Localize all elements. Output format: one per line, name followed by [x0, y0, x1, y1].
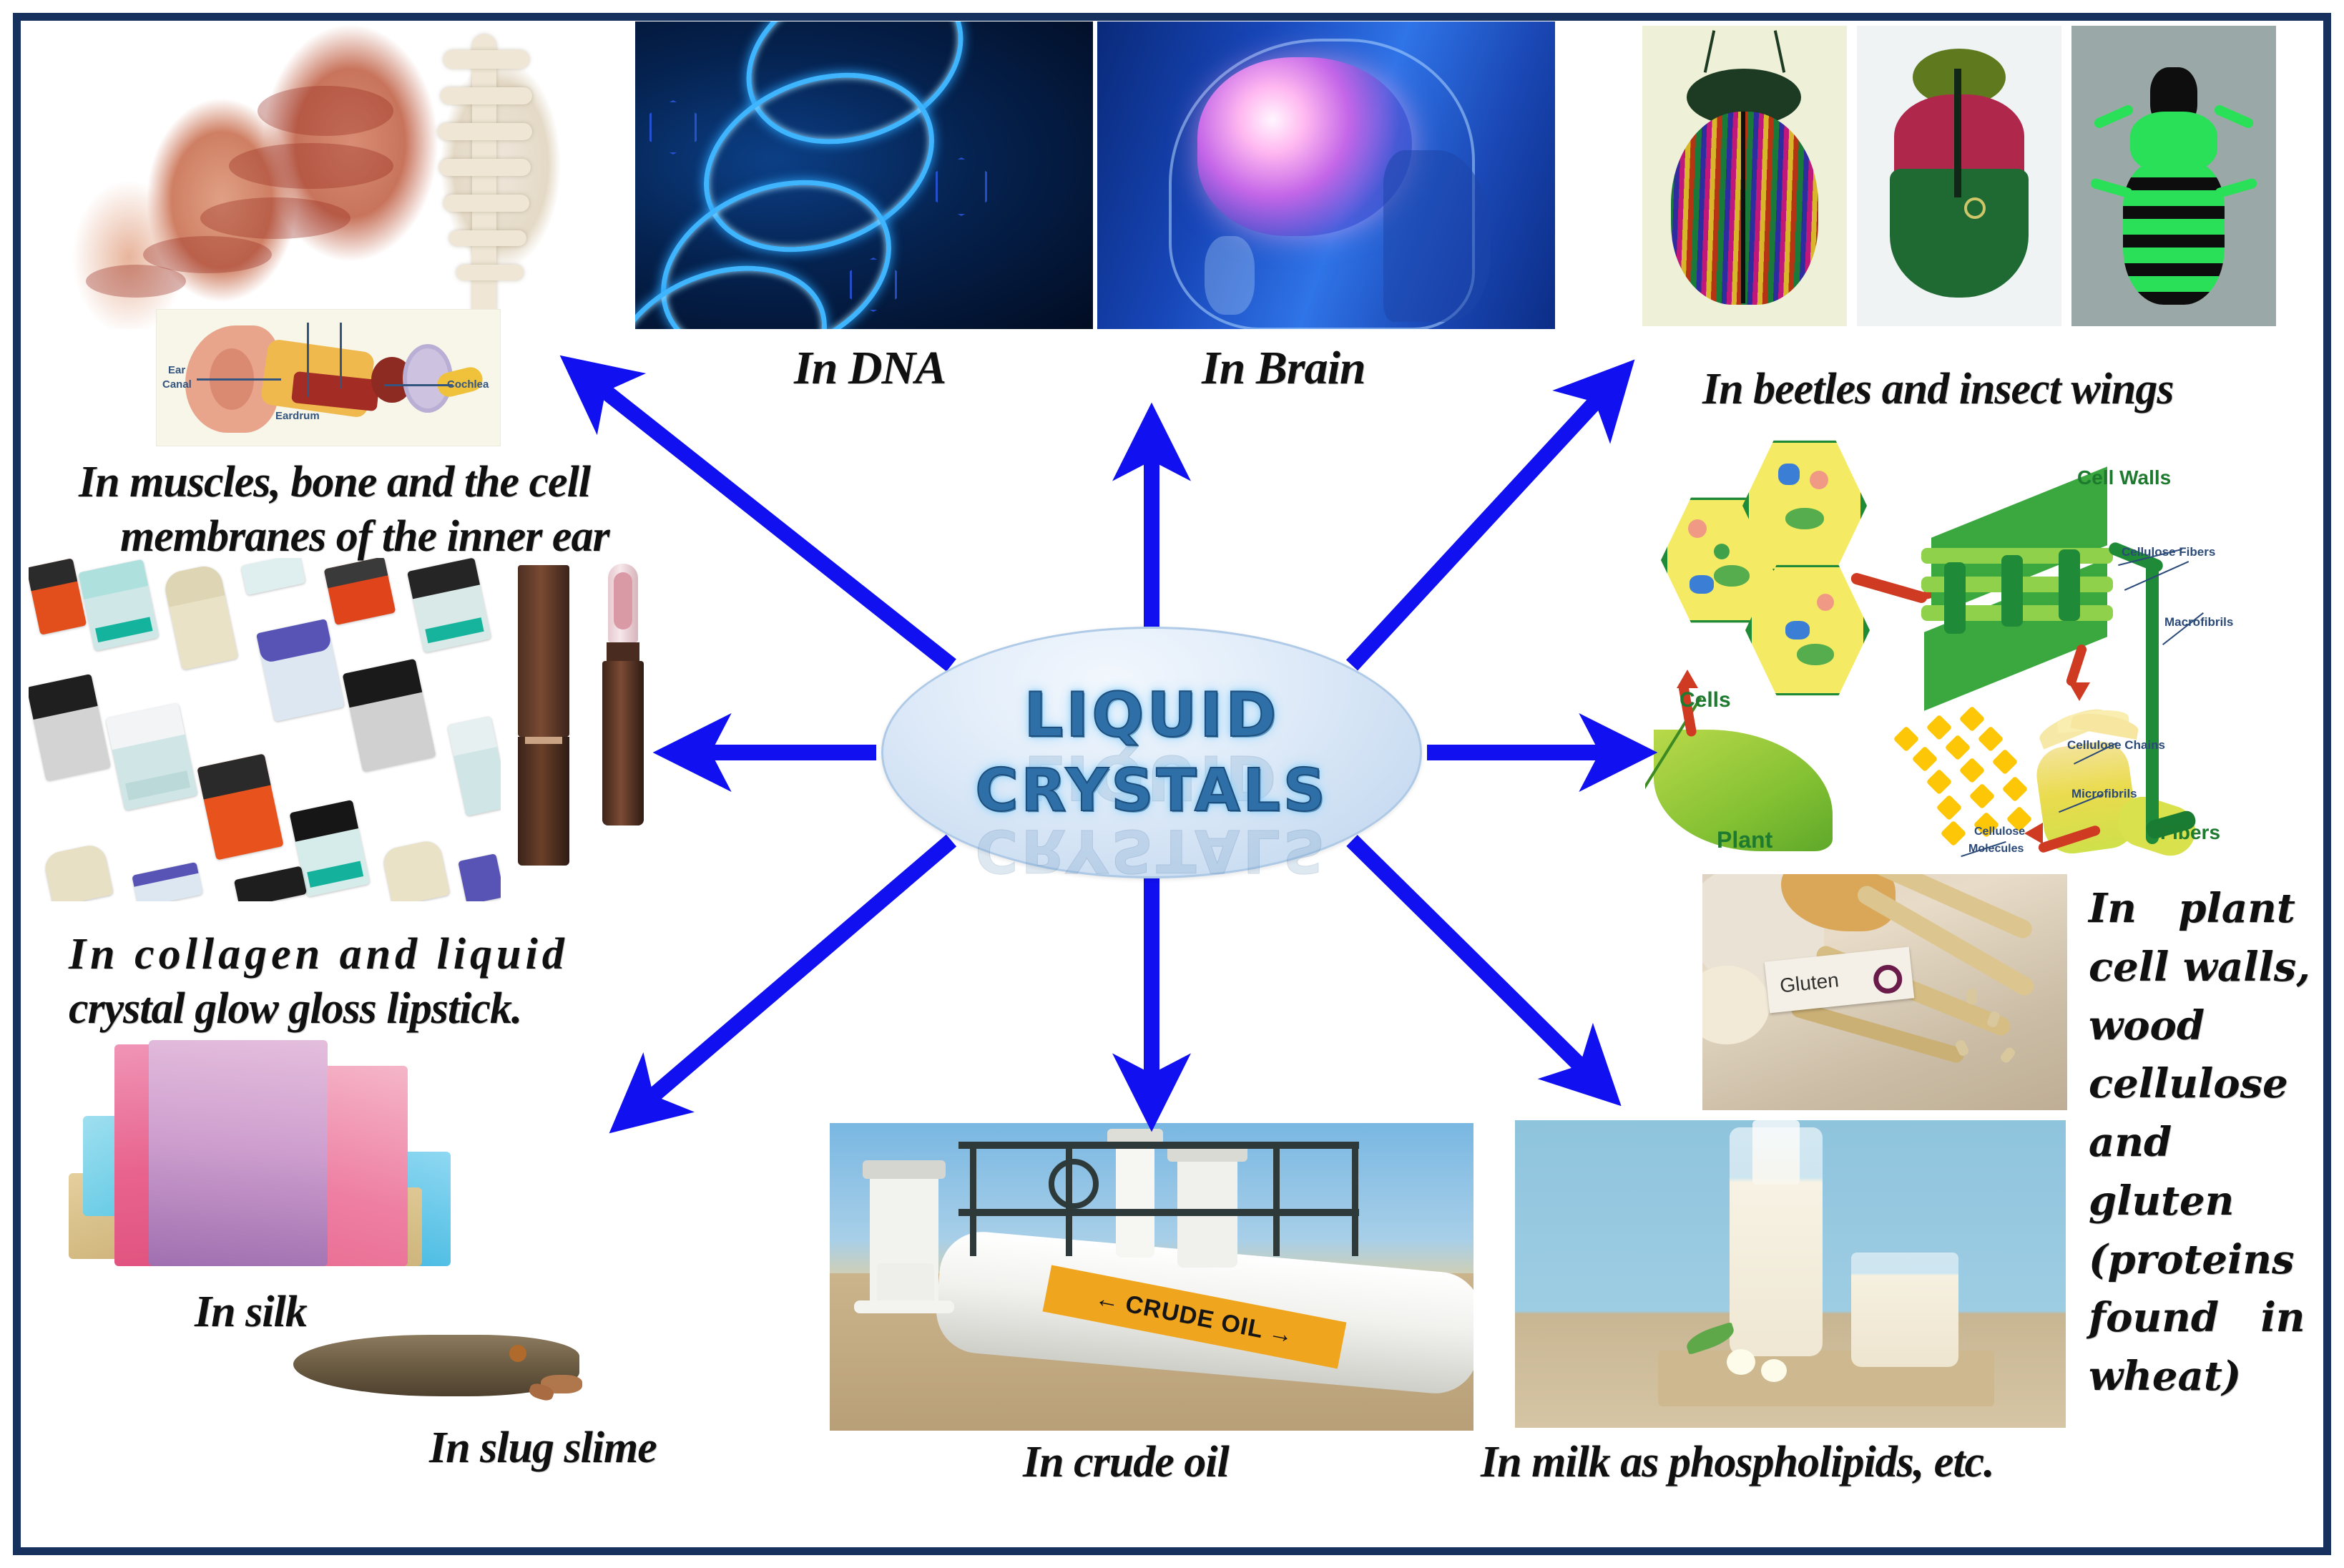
caption-plant-line-3: wood	[2089, 997, 2318, 1056]
gluten-tag-hole-icon	[1872, 964, 1903, 995]
caption-plant-line-7: (proteins	[2089, 1231, 2318, 1290]
center-node-liquid-crystals: LIQUID LIQUID CRYSTALS CRYSTALS	[881, 627, 1422, 878]
caption-plant-line-5: and	[2089, 1114, 2318, 1172]
caption-plant-line-2: cell walls,	[2089, 939, 2318, 997]
crude-oil-right-arrow-icon: →	[1266, 1318, 1296, 1350]
caption-plant-line-4: cellulose	[2089, 1055, 2318, 1114]
brain-image	[1097, 21, 1555, 329]
milk-image	[1515, 1120, 2066, 1428]
caption-plant-block: In plantcell walls,woodcelluloseandglute…	[2089, 880, 2318, 1406]
caption-crude-oil: In crude oil	[1023, 1438, 1229, 1487]
cochlea-label: Cochlea	[447, 378, 489, 391]
plant-label-plant: Plant	[1717, 827, 1772, 853]
ear-canal-label-line2: Canal	[162, 378, 192, 391]
muscle-skeleton-image	[43, 21, 587, 329]
plant-label-cellulose-chains: Cellulose Chains	[2067, 738, 2165, 753]
caption-plant-line-9: wheat)	[2089, 1348, 2318, 1406]
caption-plant-line-1: In plant	[2089, 880, 2318, 939]
plant-label-cells: Cells	[1679, 688, 1731, 712]
caption-muscles-line2: membranes of the inner ear	[120, 512, 764, 562]
crude-oil-pipeline-image: ← CRUDE OIL →	[830, 1123, 1473, 1431]
crude-oil-left-arrow-icon: ←	[1093, 1284, 1123, 1316]
scarab-beetle-image	[1857, 26, 2061, 326]
center-title-line2-text: CRYSTALS	[975, 757, 1328, 825]
silk-fabric-image	[64, 1037, 451, 1288]
eardrum-label: Eardrum	[275, 410, 320, 422]
caption-muscles-line1: In muscles, bone and the cell	[79, 458, 722, 507]
plant-label-cell-walls: Cell Walls	[2077, 466, 2171, 489]
caption-milk: In milk as phospholipids, etc.	[1481, 1438, 1994, 1487]
gluten-wheat-image: Gluten	[1702, 874, 2067, 1110]
jewel-beetle-image	[1642, 26, 1847, 326]
plant-label-macrofibrils: Macrofibrils	[2164, 615, 2233, 629]
inner-ear-diagram: Ear Canal Eardrum Cochlea	[156, 309, 501, 446]
caption-collagen-line1: In collagen and liquid	[69, 930, 569, 979]
center-title-line1: LIQUID LIQUID	[1024, 685, 1279, 746]
plant-label-microfibrils: Microfibrils	[2071, 787, 2137, 801]
plant-label-cellulose-molecules-line2: Molecules	[1968, 843, 2024, 856]
cosmetics-collage-image	[29, 558, 501, 901]
infographic-canvas: Ear Canal Eardrum Cochlea	[0, 0, 2344, 1568]
dna-helix-image	[635, 21, 1093, 329]
caption-plant-line-8: found in	[2089, 1289, 2318, 1348]
plant-label-cellulose-fibers: Cellulose Fibers	[2122, 545, 2215, 559]
caption-dna: In DNA	[794, 342, 946, 395]
slug-image	[286, 1316, 601, 1416]
caption-silk: In silk	[195, 1288, 307, 1337]
green-weevil-image	[2071, 26, 2276, 326]
plant-label-cellulose-molecules-line1: Cellulose	[1974, 825, 2025, 838]
plant-cell-wall-diagram: Cells Plant Cell Walls Fibers Cellulose …	[1645, 429, 2318, 858]
center-title-line1-text: LIQUID	[1024, 680, 1279, 751]
caption-brain: In Brain	[1202, 342, 1365, 395]
center-title-line2: CRYSTALS CRYSTALS	[975, 762, 1328, 820]
ear-canal-label-line1: Ear	[168, 364, 185, 376]
caption-slug: In slug slime	[429, 1424, 657, 1473]
beetles-image-group	[1642, 26, 2300, 326]
lip-gloss-image	[501, 558, 680, 894]
plant-label-fibers: Fibers	[2160, 821, 2220, 844]
caption-collagen-line2: crystal glow gloss lipstick.	[69, 984, 521, 1034]
gluten-tag-text: Gluten	[1779, 969, 1840, 997]
caption-plant-line-6: gluten	[2089, 1172, 2318, 1231]
caption-beetles: In beetles and insect wings	[1702, 365, 2174, 414]
